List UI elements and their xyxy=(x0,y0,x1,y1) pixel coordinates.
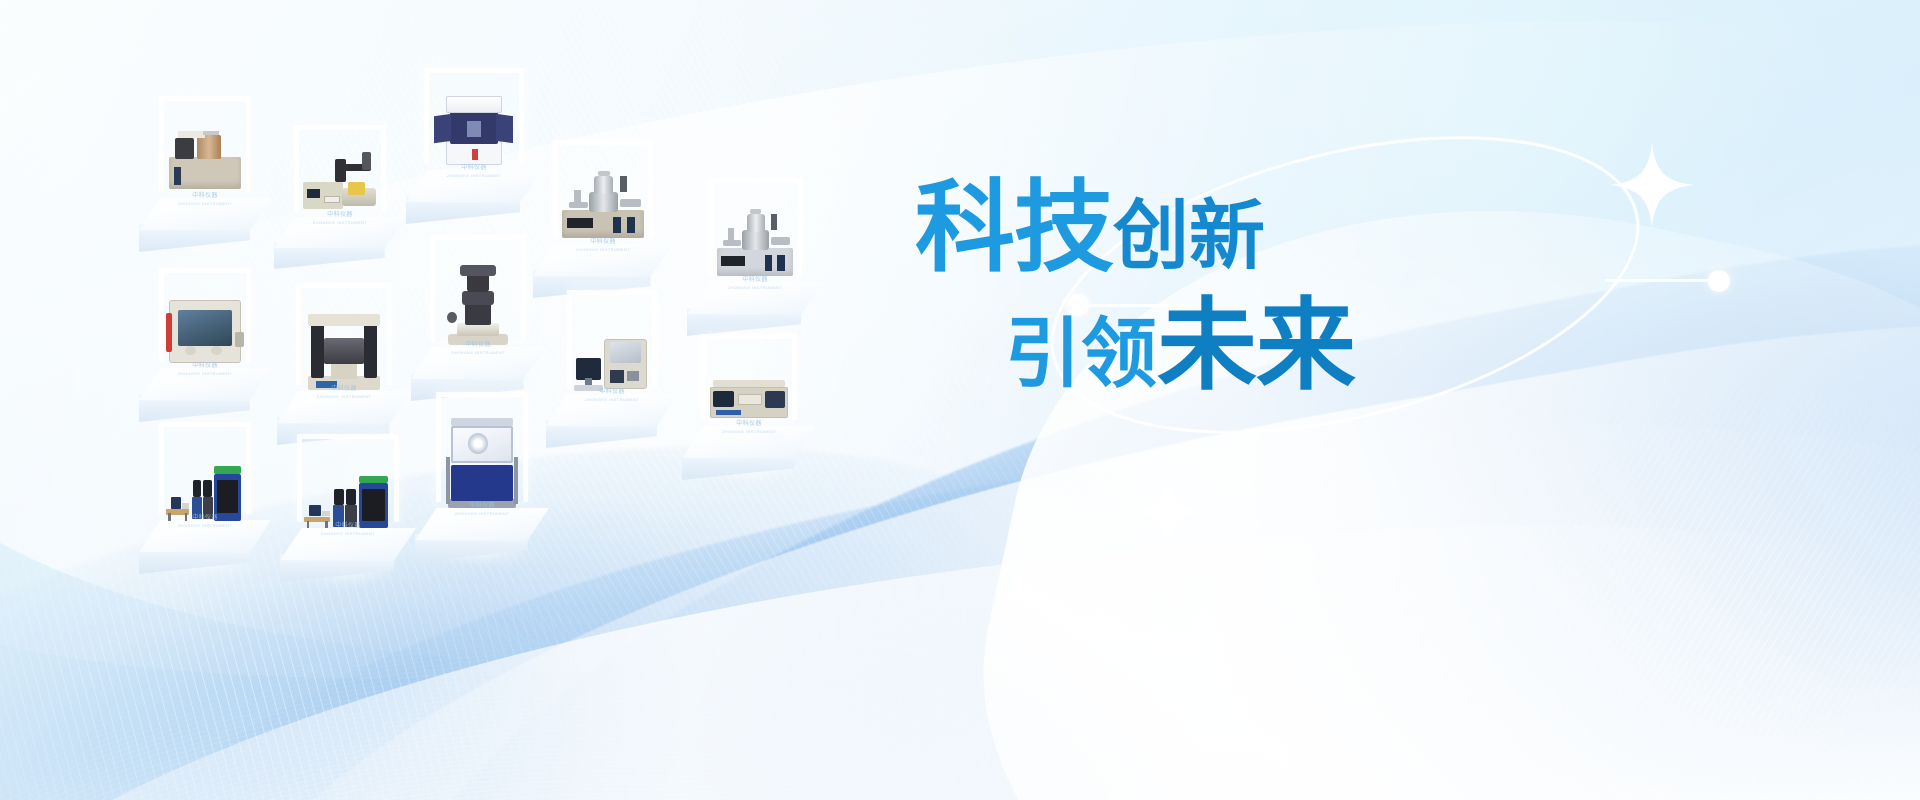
product-watermark-subtitle: ZHONGKE INSTRUMENT xyxy=(321,531,375,536)
product-watermark-subtitle: ZHONGKE INSTRUMENT xyxy=(722,429,776,434)
product-watermark-brand: 中科仪器 xyxy=(590,239,616,247)
stripe-texture-bottom-right xyxy=(1326,361,1920,800)
headline-segment-weilai: 未来 xyxy=(1157,296,1355,396)
product-device-p11 xyxy=(166,445,244,521)
product-watermark-brand: 中科仪器 xyxy=(742,277,768,285)
device-screen xyxy=(713,391,734,406)
device-vent xyxy=(627,371,639,381)
headline-line-1: 科技创新 xyxy=(915,178,1465,278)
product-watermark-brand: 中科仪器 xyxy=(461,165,487,173)
device-door-right xyxy=(496,114,513,144)
device-turret xyxy=(462,291,495,305)
headline-block: 科技创新 引领未来 xyxy=(905,178,1465,396)
device-gauge-arm xyxy=(771,214,777,230)
device-flange xyxy=(598,171,610,177)
product-watermark-subtitle: ZHONGKE INSTRUMENT xyxy=(576,247,630,252)
device-indicator xyxy=(472,149,478,160)
device-upper-chamber xyxy=(747,214,765,232)
device-core xyxy=(467,121,481,137)
product-watermark-brand: 中科仪器 xyxy=(192,363,218,371)
product-watermark-subtitle: ZHONGKE INSTRUMENT xyxy=(317,394,371,399)
product-image-large-vacuum-furnace-cabinet xyxy=(443,412,521,512)
device-head xyxy=(175,138,194,159)
product-device-p03 xyxy=(431,91,517,171)
device-monitor xyxy=(576,358,602,379)
product-watermark-subtitle: ZHONGKE INSTRUMENT xyxy=(728,285,782,290)
device-sample xyxy=(348,182,365,195)
device-probe-b xyxy=(346,489,356,505)
device-antechamber xyxy=(235,332,244,348)
product-device-p01 xyxy=(166,119,244,199)
device-instrument xyxy=(765,391,785,408)
product-plinth-p06 xyxy=(139,368,271,422)
product-device-p10 xyxy=(708,355,790,425)
product-watermark-brand: 中科仪器 xyxy=(331,386,357,394)
device-lower-chamber xyxy=(742,230,769,250)
product-watermark-brand: 中科仪器 xyxy=(469,503,495,511)
device-control-panel xyxy=(610,370,624,383)
product-watermark-subtitle: ZHONGKE INSTRUMENT xyxy=(451,350,505,355)
device-test-window xyxy=(217,480,237,513)
device-lower-chamber xyxy=(589,192,618,212)
device-focus-knob xyxy=(447,312,457,323)
device-knob xyxy=(203,131,219,135)
device-desk-leg-l xyxy=(307,521,310,528)
device-door-left xyxy=(434,114,451,144)
product-image-electronic-tensile-tester xyxy=(304,450,392,528)
device-flange xyxy=(750,209,761,215)
device-valve-stem xyxy=(728,228,734,241)
device-printer xyxy=(182,503,190,509)
device-side-accent xyxy=(166,313,172,352)
device-label-plate xyxy=(721,256,745,266)
product-image-vacuum-coating-chamber xyxy=(560,158,646,246)
product-device-p09 xyxy=(574,314,650,396)
product-image-optical-microscope-station xyxy=(437,254,519,350)
device-valve-right xyxy=(620,199,641,206)
device-eyepiece xyxy=(460,265,496,276)
product-image-high-temperature-friction-tester xyxy=(166,113,244,199)
product-device-p06 xyxy=(166,291,244,369)
device-frame-top xyxy=(214,466,241,474)
device-glove-port-left xyxy=(185,346,196,355)
product-plinth-p05 xyxy=(687,282,823,336)
device-valve-stem xyxy=(574,190,581,203)
device-probe-a xyxy=(334,489,344,505)
product-watermark-subtitle: ZHONGKE INSTRUMENT xyxy=(313,220,367,225)
product-watermark-subtitle: ZHONGKE INSTRUMENT xyxy=(178,523,232,528)
product-image-micro-positioning-stage-unit xyxy=(301,140,379,216)
device-chamber xyxy=(197,135,220,159)
device-panel xyxy=(324,196,340,203)
device-display xyxy=(174,167,181,185)
product-showcase: 中科仪器ZHONGKE INSTRUMENT中科仪器ZHONGKE INSTRU… xyxy=(0,0,920,800)
sparkle-star-top-right xyxy=(1610,143,1694,227)
headline-segment-keji: 科技 xyxy=(915,178,1113,278)
product-device-p07 xyxy=(303,307,385,393)
product-device-p08 xyxy=(437,260,519,350)
product-item-control-console-bench[interactable]: 中科仪器ZHONGKE INSTRUMENT xyxy=(659,334,839,504)
device-upper-chamber xyxy=(594,176,613,194)
product-plinth-p10 xyxy=(682,426,816,480)
product-plinth-p13 xyxy=(415,508,549,562)
device-desk-leg-l xyxy=(168,513,170,521)
device-window xyxy=(178,310,231,346)
product-watermark-brand: 中科仪器 xyxy=(335,523,361,531)
headline-segment-chuangxin: 创新 xyxy=(1113,198,1265,278)
device-column-left xyxy=(311,324,324,377)
device-chamber-window xyxy=(610,342,640,363)
device-lower-door xyxy=(451,465,513,501)
product-watermark-brand: 中科仪器 xyxy=(736,421,762,429)
product-watermark-subtitle: ZHONGKE INSTRUMENT xyxy=(178,371,232,376)
product-image-universal-testing-lab-setup xyxy=(166,439,244,521)
device-meter-b xyxy=(777,255,784,271)
device-panel xyxy=(738,394,763,405)
product-watermark-subtitle: ZHONGKE INSTRUMENT xyxy=(585,397,639,402)
device-fixture xyxy=(331,364,357,379)
device-column-right xyxy=(514,457,518,504)
product-watermark-brand: 中科仪器 xyxy=(465,342,491,350)
product-watermark-brand: 中科仪器 xyxy=(192,193,218,201)
device-meter-a xyxy=(613,217,621,233)
hero-banner: 中科仪器ZHONGKE INSTRUMENT中科仪器ZHONGKE INSTRU… xyxy=(0,0,1920,800)
product-image-dual-column-test-machine xyxy=(303,301,385,393)
product-watermark-subtitle: ZHONGKE INSTRUMENT xyxy=(455,511,509,516)
device-column-left xyxy=(446,457,450,504)
product-image-magnetron-sputtering-system xyxy=(715,196,795,284)
device-meter-b xyxy=(627,217,635,233)
device-arm xyxy=(178,131,205,138)
device-monitor xyxy=(171,497,181,509)
device-probe-a xyxy=(193,480,202,497)
product-image-benchtop-analysis-instrument xyxy=(431,85,517,171)
product-device-p04 xyxy=(560,164,646,246)
device-stage xyxy=(457,323,500,336)
product-plinth-p11 xyxy=(139,520,271,574)
device-frame-top xyxy=(359,476,389,483)
product-watermark-subtitle: ZHONGKE INSTRUMENT xyxy=(447,173,501,178)
orbit-connector-right xyxy=(1605,279,1721,282)
device-top-cap xyxy=(451,418,513,426)
product-watermark-brand: 中科仪器 xyxy=(192,515,218,523)
device-brand-strip xyxy=(716,410,741,415)
device-screen xyxy=(307,189,319,197)
product-device-p05 xyxy=(715,202,795,284)
headline-segment-yinling: 引领 xyxy=(1005,316,1157,396)
product-image-workstation-with-monitor xyxy=(574,308,650,396)
device-head xyxy=(362,152,371,170)
device-top-beam xyxy=(308,314,380,326)
device-gauge-arm xyxy=(620,176,627,192)
sparkle-star-lower-left xyxy=(1133,476,1203,546)
device-column xyxy=(335,159,346,183)
product-watermark-subtitle: ZHONGKE INSTRUMENT xyxy=(178,201,232,206)
device-glove-port-right xyxy=(211,346,222,355)
device-top-rail xyxy=(713,380,785,387)
orbit-node-right xyxy=(1708,270,1730,292)
device-column-right xyxy=(364,324,377,377)
device-meter-a xyxy=(765,255,772,271)
device-probe-b xyxy=(203,480,212,497)
product-image-control-console-bench xyxy=(708,349,790,425)
product-watermark-brand: 中科仪器 xyxy=(599,389,625,397)
headline-line-2: 引领未来 xyxy=(1005,296,1465,396)
device-valve-right xyxy=(771,237,790,244)
product-device-p12 xyxy=(304,456,392,528)
device-desk-leg-r xyxy=(325,521,328,528)
device-crosshead xyxy=(324,338,363,364)
product-device-p13 xyxy=(443,418,521,512)
device-label-plate xyxy=(567,218,593,228)
product-item-large-vacuum-furnace-cabinet[interactable]: 中科仪器ZHONGKE INSTRUMENT xyxy=(392,392,572,586)
device-test-window xyxy=(362,489,385,521)
device-monitor xyxy=(309,505,320,517)
product-image-vacuum-glove-box xyxy=(166,285,244,369)
product-device-p02 xyxy=(301,146,379,216)
device-fan xyxy=(468,433,488,454)
product-watermark-brand: 中科仪器 xyxy=(327,212,353,220)
device-desk-leg-r xyxy=(185,513,187,521)
device-printer xyxy=(322,511,331,517)
device-top xyxy=(446,96,501,114)
